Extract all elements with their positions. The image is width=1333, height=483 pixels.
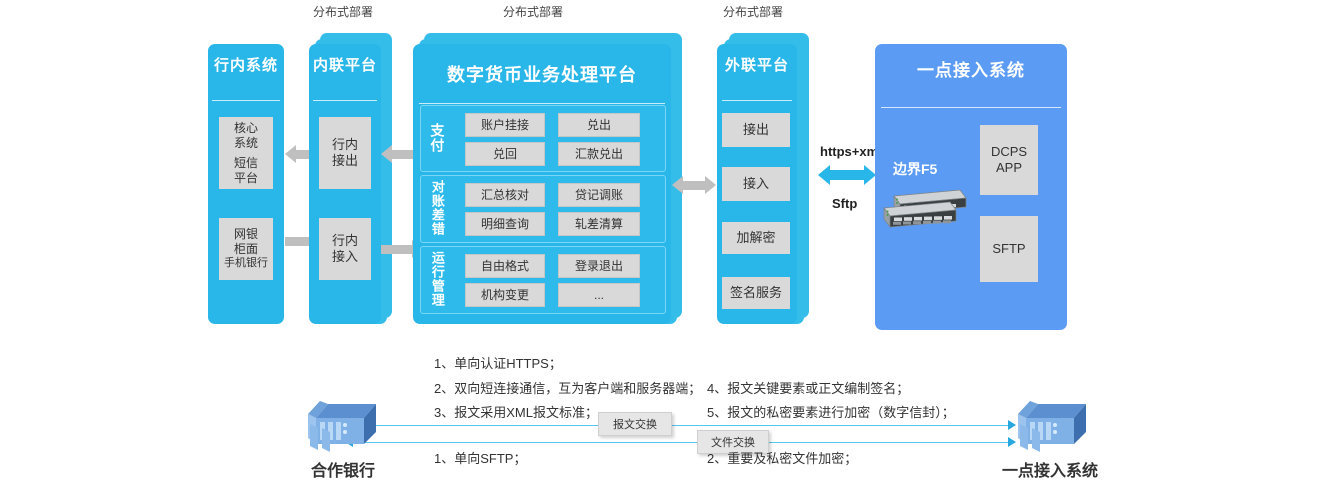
deploy-label-intranet: 分布式部署 [313, 3, 373, 20]
tile-sftp[interactable]: SFTP [980, 216, 1038, 282]
note-upper-left-1: 1、单向认证HTTPS； [434, 353, 562, 372]
deploy-label-dcep: 分布式部署 [503, 3, 563, 20]
tile-line: 行内 [332, 233, 358, 249]
tile-ext-crypto[interactable]: 加解密 [722, 222, 790, 254]
tile-line: 平台 [234, 171, 258, 186]
panel-intranet-platform-title: 内联平台 [309, 58, 381, 75]
panel-dcep-platform-title: 数字货币业务处理平台 [413, 66, 671, 86]
deploy-label-external: 分布式部署 [723, 3, 783, 20]
tile-intra-inbound[interactable]: 行内 接入 [319, 218, 371, 280]
tile-line: 柜面 [234, 242, 258, 257]
tile-netting-settle[interactable]: 轧差清算 [558, 212, 640, 236]
f5-label: 边界F5 [893, 159, 937, 179]
group-operations-label: 运行管理 [426, 246, 448, 312]
tile-line: 接入 [332, 249, 358, 265]
tile-line: APP [996, 160, 1022, 176]
tile-free-format[interactable]: 自由格式 [465, 254, 545, 278]
caption-partner-bank: 合作银行 [278, 457, 408, 481]
flow-line-message [352, 425, 1008, 426]
tile-line: 短信 [234, 156, 258, 171]
chip-message-exchange[interactable]: 报文交换 [598, 412, 672, 436]
tile-summary-check[interactable]: 汇总核对 [465, 183, 545, 207]
tile-redeem-out[interactable]: 兑出 [558, 113, 640, 137]
link-label-sftp: Sftp [832, 196, 857, 211]
flow-line-file [352, 442, 1008, 443]
tile-line: 行内 [332, 137, 358, 153]
note-upper-left-2: 2、双向短连接通信，互为客户端和服务器端； [434, 378, 701, 397]
tile-line: 手机银行 [224, 257, 268, 271]
note-upper-left-3: 3、报文采用XML报文标准； [434, 402, 598, 421]
panel-intra-system-title: 行内系统 [208, 58, 284, 75]
tile-org-change[interactable]: 机构变更 [465, 283, 545, 307]
server-stack-icon-left [298, 398, 386, 454]
note-lower-left-1: 1、单向SFTP； [434, 448, 526, 467]
note-lower-right-2: 2、重要及私密文件加密； [707, 448, 857, 467]
tile-login-logout[interactable]: 登录退出 [558, 254, 640, 278]
note-upper-right-5: 5、报文的私密要素进行加密（数字信封）； [707, 402, 955, 421]
tile-redeem-back[interactable]: 兑回 [465, 142, 545, 166]
tile-line: 接出 [332, 153, 358, 169]
note-upper-right-4: 4、报文关键要素或正文编制签名； [707, 378, 909, 397]
arrow-external-to-access [818, 165, 876, 185]
diagram-canvas: 分布式部署 分布式部署 分布式部署 行内系统 核心 系统 短信 平台 网银 柜面… [0, 0, 1333, 483]
tile-credit-adjust[interactable]: 贷记调账 [558, 183, 640, 207]
tile-account-link[interactable]: 账户挂接 [465, 113, 545, 137]
group-reconciliation-label: 对账差错 [426, 175, 448, 241]
link-label-https-xml: https+xml [820, 144, 882, 159]
tile-ext-outbound[interactable]: 接出 [722, 113, 790, 147]
tile-core-system[interactable]: 核心 系统 短信 平台 [219, 117, 273, 189]
tile-line: DCPS [991, 144, 1027, 160]
tile-ebank-counter-mobile[interactable]: 网银 柜面 手机银行 [219, 218, 273, 280]
tile-dcps-app[interactable]: DCPS APP [980, 125, 1038, 195]
tile-line: 网银 [234, 227, 258, 242]
rack-switch-icon [880, 186, 968, 234]
tile-remit-redeem-out[interactable]: 汇款兑出 [558, 142, 640, 166]
tile-intra-outbound[interactable]: 行内 接出 [319, 117, 371, 189]
tile-ext-signature[interactable]: 签名服务 [722, 277, 790, 309]
arrow-dcep-to-external [672, 175, 716, 195]
tile-line: 系统 [234, 136, 258, 151]
group-payment-label: 支付 [426, 105, 448, 170]
tile-line: 核心 [234, 121, 258, 136]
panel-external-platform-title: 外联平台 [717, 58, 797, 75]
caption-single-access-system: 一点接入系统 [985, 457, 1115, 481]
tile-more[interactable]: ... [558, 283, 640, 307]
server-stack-icon-right [1008, 398, 1096, 454]
tile-detail-query[interactable]: 明细查询 [465, 212, 545, 236]
tile-ext-inbound[interactable]: 接入 [722, 167, 790, 201]
panel-single-access-system-title: 一点接入系统 [875, 62, 1067, 81]
